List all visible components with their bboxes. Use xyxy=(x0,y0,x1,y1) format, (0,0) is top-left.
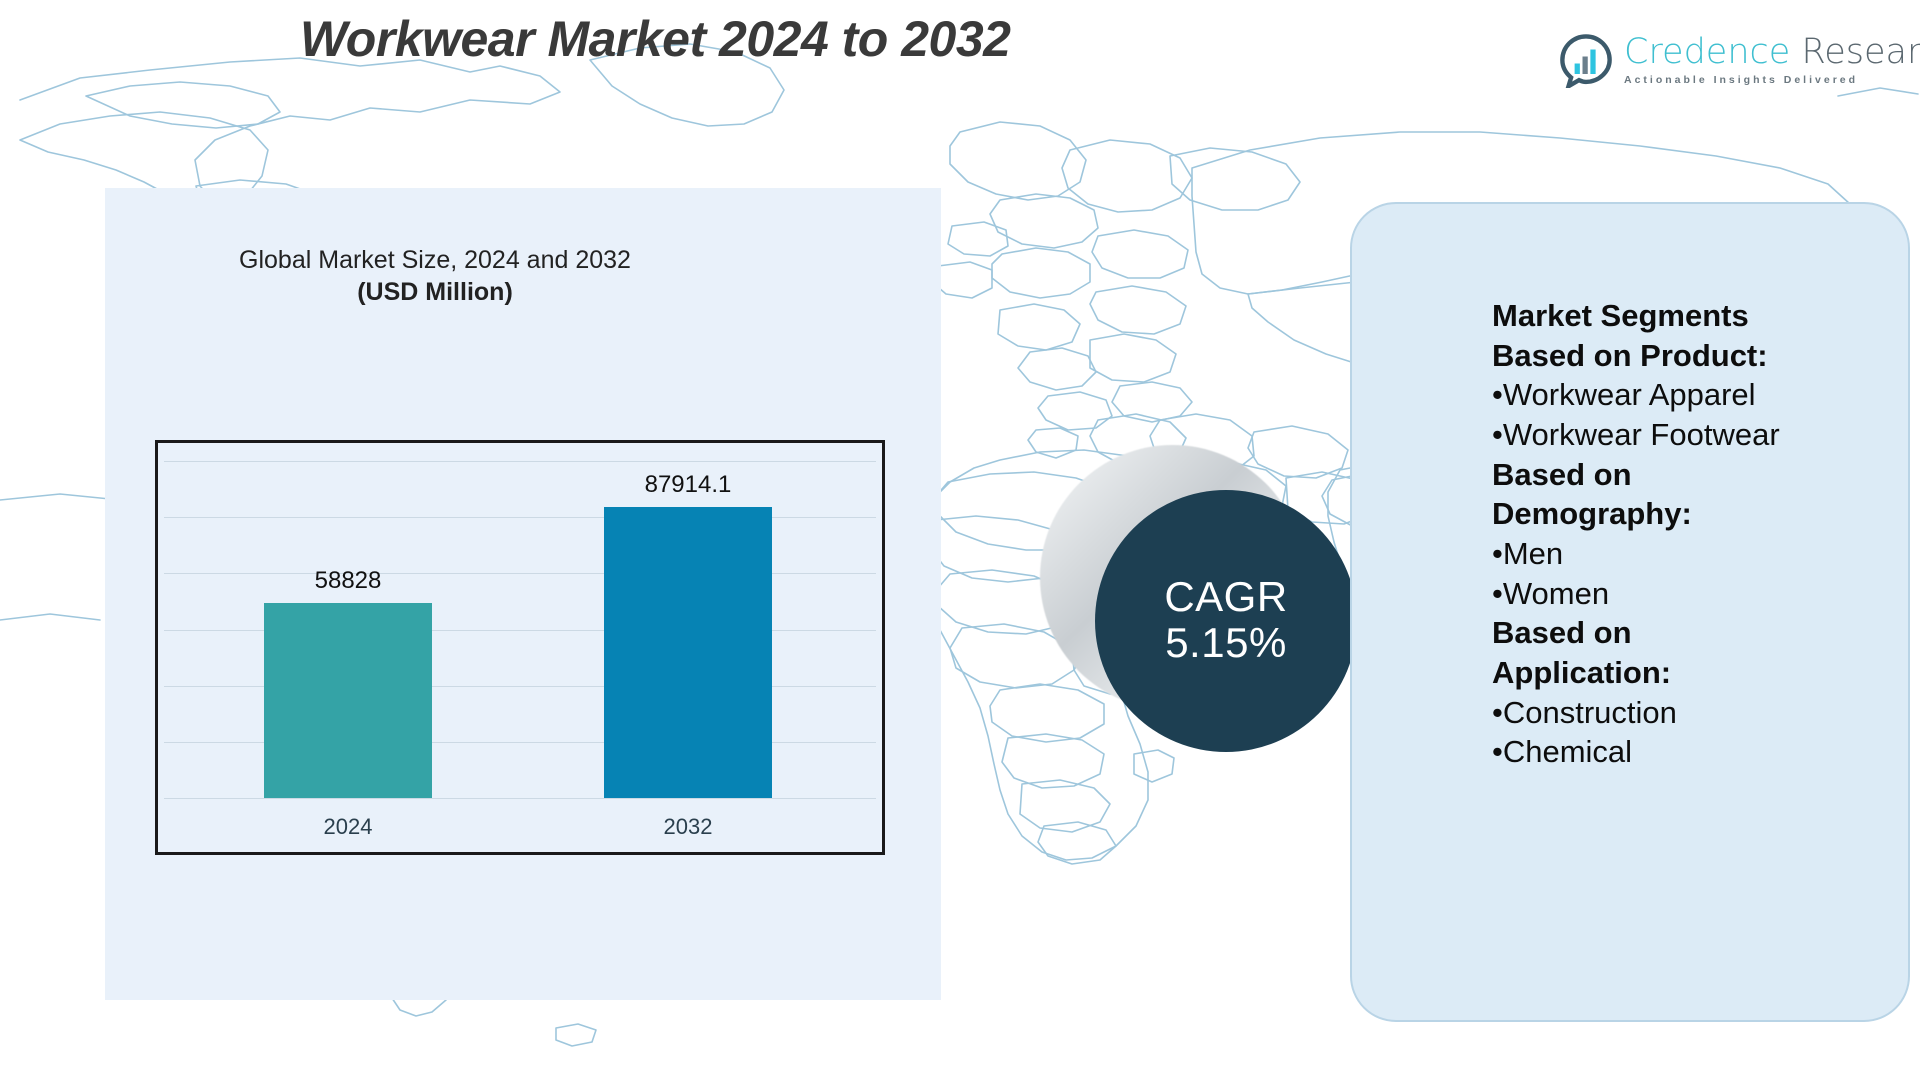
chart-caption: Global Market Size, 2024 and 2032 (USD M… xyxy=(135,244,735,308)
chart-bar xyxy=(604,507,772,798)
segment-bullet: •Women xyxy=(1492,574,1908,614)
cagr-value: 5.15% xyxy=(1165,619,1287,667)
segment-bullet: •Chemical xyxy=(1492,732,1908,772)
cagr-badge: CAGR 5.15% xyxy=(1040,445,1360,755)
infographic-canvas: Workwear Market 2024 to 2032 Credence Re… xyxy=(0,0,1920,1080)
chart-gridline xyxy=(164,461,876,462)
bar-chart-speech-bubble-icon xyxy=(1558,32,1614,88)
page-title: Workwear Market 2024 to 2032 xyxy=(300,10,1010,68)
chart-category-label: 2032 xyxy=(598,814,778,840)
segment-heading: Market Segments xyxy=(1492,296,1908,336)
segment-heading: Application: xyxy=(1492,653,1908,693)
credence-research-logo: Credence Research Actionable Insights De… xyxy=(1558,32,1920,88)
logo-name-research: Research xyxy=(1801,32,1920,72)
segment-heading: Demography: xyxy=(1492,494,1908,534)
bar-chart: 58828202487914.12032 xyxy=(155,440,885,855)
chart-caption-line1: Global Market Size, 2024 and 2032 xyxy=(135,244,735,276)
segment-heading: Based on xyxy=(1492,613,1908,653)
chart-bar-value: 58828 xyxy=(238,567,458,595)
chart-gridline xyxy=(164,798,876,799)
logo-wordmark: Credence Research xyxy=(1624,35,1920,70)
segment-heading: Based on Product: xyxy=(1492,336,1908,376)
logo-tagline: Actionable Insights Delivered xyxy=(1624,74,1920,86)
chart-bar-value: 87914.1 xyxy=(578,471,798,499)
cagr-circle: CAGR 5.15% xyxy=(1095,490,1357,752)
logo-text: Credence Research Actionable Insights De… xyxy=(1624,35,1920,86)
segment-heading: Based on xyxy=(1492,455,1908,495)
chart-category-label: 2024 xyxy=(258,814,438,840)
segment-bullet: •Construction xyxy=(1492,693,1908,733)
chart-plot-area: 58828202487914.12032 xyxy=(158,443,882,852)
cagr-label: CAGR xyxy=(1164,575,1287,619)
market-segments-list: Market SegmentsBased on Product:•Workwea… xyxy=(1492,296,1908,772)
segment-bullet: •Workwear Apparel xyxy=(1492,375,1908,415)
logo-name-credence: Credence xyxy=(1624,32,1790,72)
market-segments-panel: Market SegmentsBased on Product:•Workwea… xyxy=(1350,202,1910,1022)
chart-bar xyxy=(264,603,432,798)
segment-bullet: •Men xyxy=(1492,534,1908,574)
chart-caption-line2: (USD Million) xyxy=(135,276,735,308)
segment-bullet: •Workwear Footwear xyxy=(1492,415,1908,455)
